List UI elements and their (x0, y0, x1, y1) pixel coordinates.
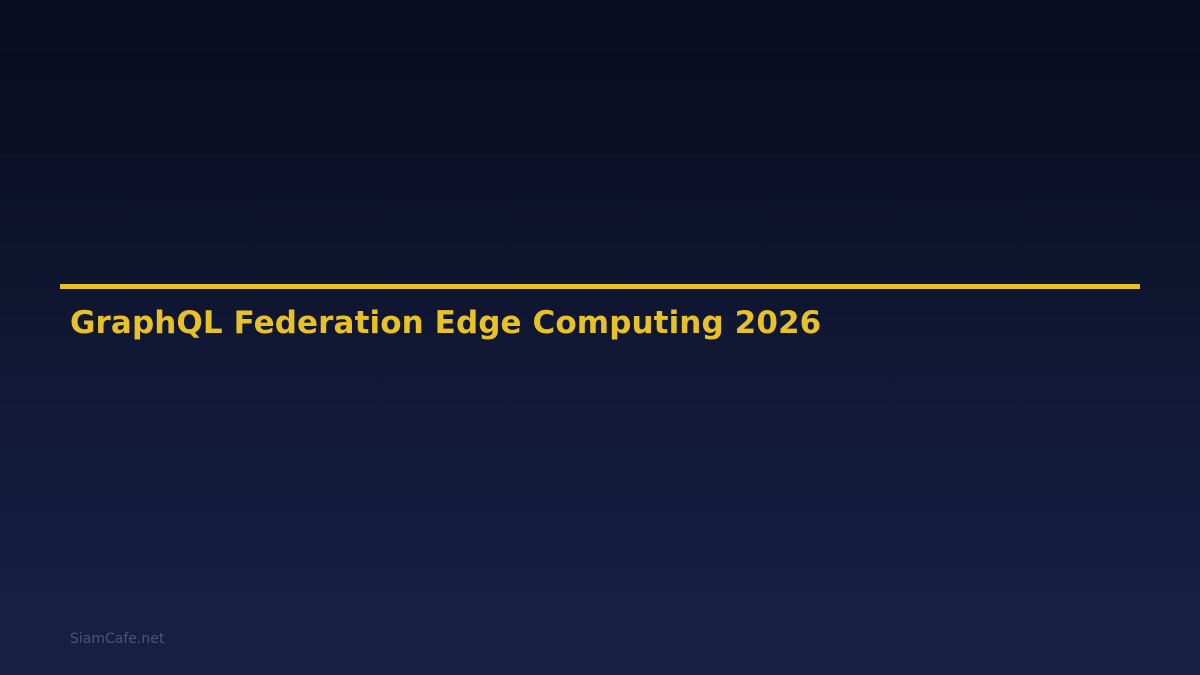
gradient-band (0, 155, 1200, 156)
title-accent-bar (60, 284, 1140, 289)
watermark-label: SiamCafe.net (70, 630, 164, 648)
gradient-band (0, 265, 1200, 266)
gradient-band (0, 380, 1200, 381)
gradient-band (0, 492, 1200, 493)
slide-canvas: GraphQL Federation Edge Computing 2026 S… (0, 0, 1200, 675)
slide-title: GraphQL Federation Edge Computing 2026 (70, 304, 821, 342)
gradient-band (0, 48, 1200, 49)
gradient-band (0, 600, 1200, 601)
